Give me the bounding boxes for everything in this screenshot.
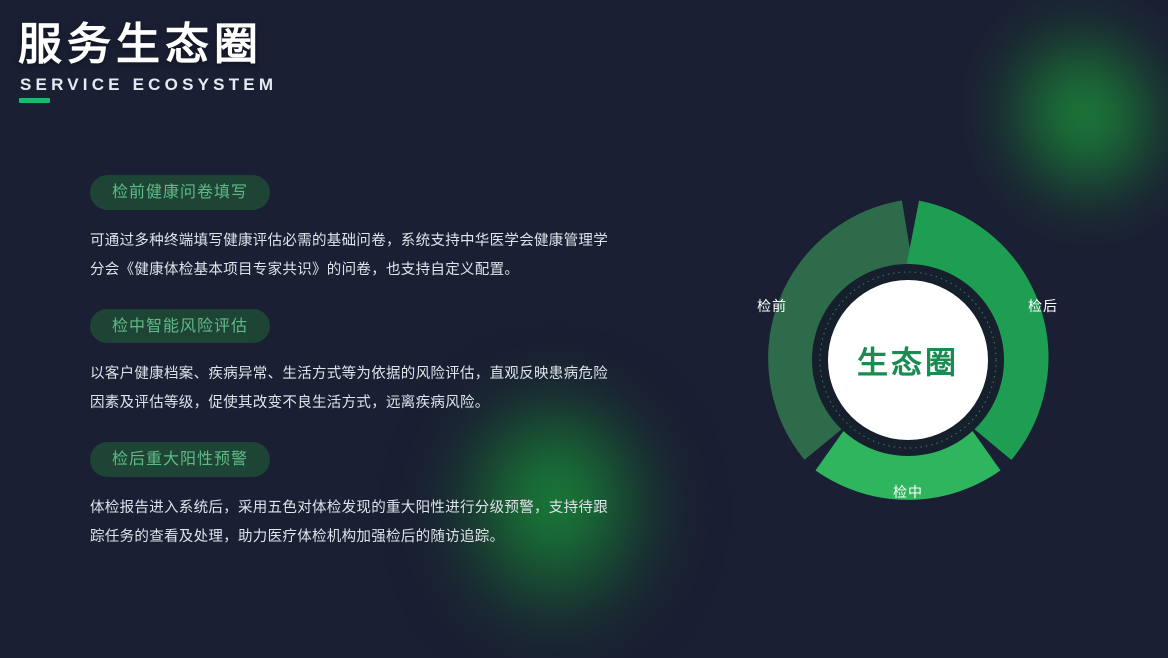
section-pill-during-exam[interactable]: 检中智能风险评估 [90,309,270,344]
logo-block: 服务生态圈 SERVICE ECOSYSTEM [18,20,277,95]
page-title-en: SERVICE ECOSYSTEM [20,75,277,95]
section-pill-pre-exam[interactable]: 检前健康问卷填写 [90,175,270,210]
section-pill-post-exam[interactable]: 检后重大阳性预警 [90,442,270,477]
donut-label-post-exam: 检后 [1028,296,1058,316]
section-post-exam: 检后重大阳性预警 体检报告进入系统后，采用五色对体检发现的重大阳性进行分级预警，… [90,442,615,552]
content-column: 检前健康问卷填写 可通过多种终端填写健康评估必需的基础问卷，系统支持中华医学会健… [90,175,615,552]
accent-underline [19,98,50,103]
section-body-during-exam: 以客户健康档案、疾病异常、生活方式等为依据的风险评估，直观反映患病危险因素及评估… [90,360,615,418]
section-pre-exam: 检前健康问卷填写 可通过多种终端填写健康评估必需的基础问卷，系统支持中华医学会健… [90,175,615,285]
donut-center-label: 生态圈 [857,338,959,383]
donut-label-during-exam: 检中 [893,482,923,502]
section-body-post-exam: 体检报告进入系统后，采用五色对体检发现的重大阳性进行分级预警，支持待跟踪任务的查… [90,494,615,552]
page-subtitle-wrap: SERVICE ECOSYSTEM [18,75,277,95]
section-during-exam: 检中智能风险评估 以客户健康档案、疾病异常、生活方式等为依据的风险评估，直观反映… [90,309,615,419]
donut-label-pre-exam: 检前 [757,296,787,316]
ecosystem-donut-diagram: 生态圈 检前 检后 检中 [748,200,1068,520]
page-title-cn: 服务生态圈 [18,20,277,71]
section-body-pre-exam: 可通过多种终端填写健康评估必需的基础问卷，系统支持中华医学会健康管理学分会《健康… [90,227,615,285]
